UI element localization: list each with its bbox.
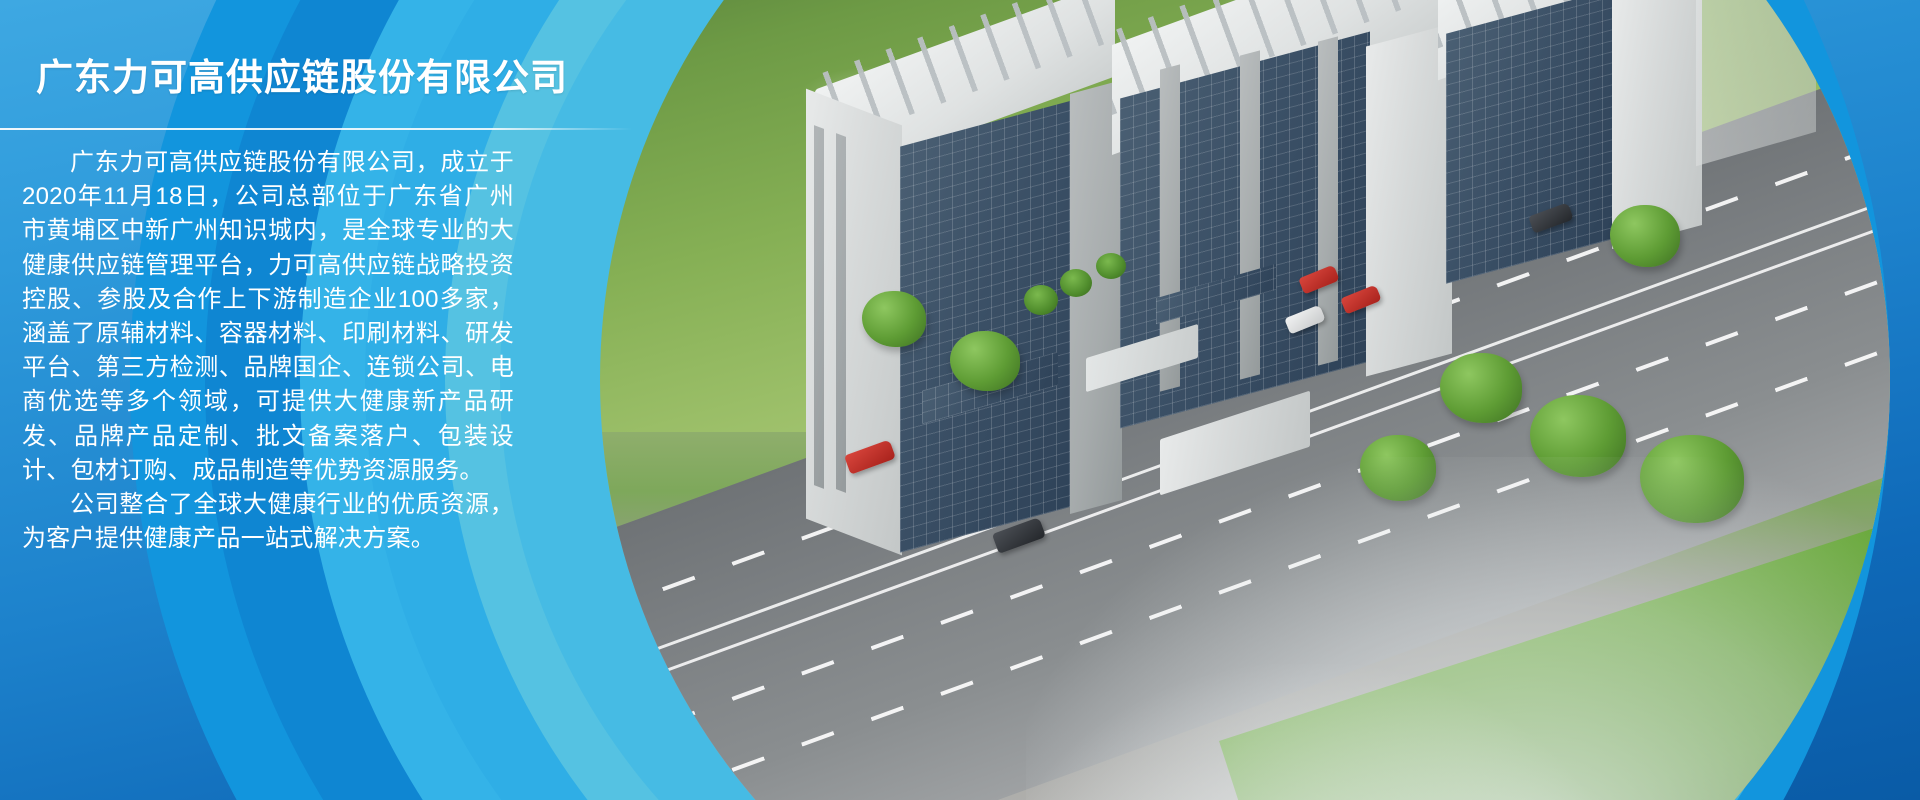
- facility-photo-content: [600, 0, 1890, 800]
- shrub: [1060, 269, 1092, 297]
- text-column: 广东力可高供应链股份有限公司 广东力可高供应链股份有限公司，成立于2020年11…: [0, 0, 640, 800]
- building-center-pier-b: [1240, 50, 1260, 379]
- page-title: 广东力可高供应链股份有限公司: [36, 56, 568, 100]
- title-underline-rule: [0, 128, 632, 130]
- building-left-slot-window-b: [836, 133, 846, 493]
- building-left-slot-window-a: [814, 125, 824, 489]
- company-description: 广东力可高供应链股份有限公司，成立于2020年11月18日，公司总部位于广东省广…: [22, 146, 514, 556]
- tree: [1440, 353, 1522, 423]
- facility-photo: [600, 0, 1890, 800]
- shrub: [1096, 253, 1126, 279]
- banner-stage: 广东力可高供应链股份有限公司 广东力可高供应链股份有限公司，成立于2020年11…: [0, 0, 1920, 800]
- photo-haze-bottom: [987, 664, 1632, 800]
- description-paragraph-1: 广东力可高供应链股份有限公司，成立于2020年11月18日，公司总部位于广东省广…: [22, 146, 514, 488]
- building-right-glass-facade: [1446, 0, 1616, 284]
- shrub: [1024, 285, 1058, 315]
- tree: [950, 331, 1020, 391]
- description-paragraph-2: 公司整合了全球大健康行业的优质资源，为客户提供健康产品一站式解决方案。: [22, 488, 514, 556]
- tree: [1610, 205, 1680, 267]
- tree: [862, 291, 926, 347]
